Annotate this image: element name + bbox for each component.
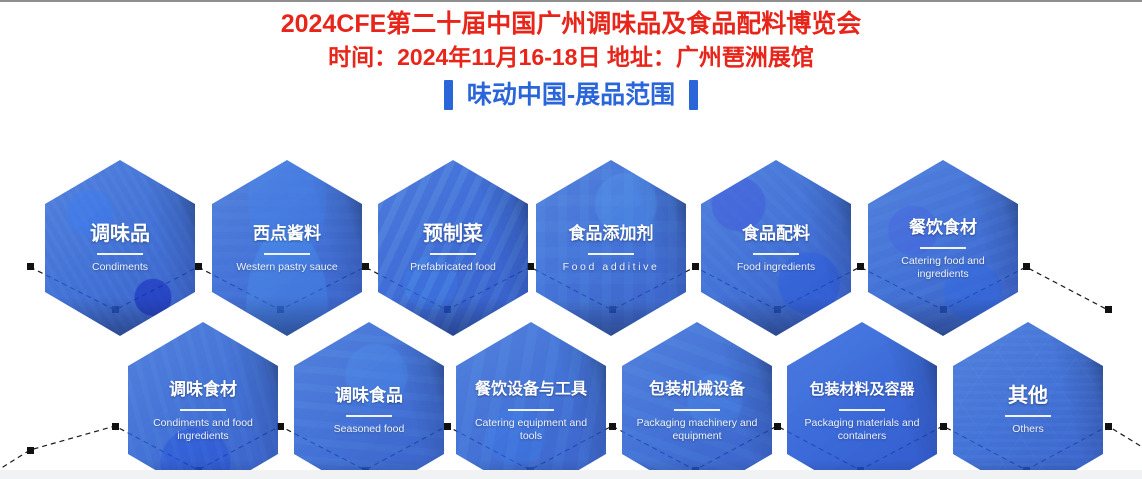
tile-title-cn: 其他 <box>961 384 1095 408</box>
tile-divider <box>430 253 476 255</box>
connector-marker <box>27 263 34 270</box>
exhibition-scope-poster: 2024CFE第二十届中国广州调味品及食品配料博览会 时间：2024年11月16… <box>0 0 1142 479</box>
category-tile-prefabricated-food[interactable]: 预制菜 Prefabricated food <box>378 160 528 336</box>
category-tile-condiments[interactable]: 调味品 Condiments <box>45 160 195 336</box>
category-tile-seasoned-food[interactable]: 调味食品 Seasoned food <box>294 322 444 479</box>
connector-marker <box>27 447 34 454</box>
tile-title-cn: 食品添加剂 <box>544 222 678 246</box>
bottom-strip <box>0 470 1142 479</box>
tile-title-cn: 包装材料及容器 <box>795 378 929 402</box>
tile-title-en: Condiments <box>53 261 187 274</box>
connector-marker <box>195 263 202 270</box>
tile-divider <box>180 409 226 411</box>
tile-divider <box>1005 415 1051 417</box>
connector-marker <box>857 263 864 270</box>
connector-marker <box>609 423 616 430</box>
section-subtitle: 味动中国-展品范围 <box>467 79 675 111</box>
tile-title-en: Condiments and food ingredients <box>136 417 270 442</box>
tile-divider <box>97 253 143 255</box>
connector-marker <box>444 423 451 430</box>
connector-marker <box>1105 306 1112 313</box>
connector-marker <box>692 263 699 270</box>
tile-divider <box>674 409 720 411</box>
connector-marker <box>1023 263 1030 270</box>
tile-title-en: Catering equipment and tools <box>464 417 598 442</box>
tile-title-cn: 预制菜 <box>386 222 520 246</box>
connector-marker <box>774 423 781 430</box>
subtitle-row: 味动中国-展品范围 <box>0 79 1142 111</box>
top-divider <box>0 0 1142 2</box>
tile-title-cn: 包装机械设备 <box>630 378 764 402</box>
tile-title-en: Packaging materials and containers <box>795 417 929 442</box>
connector-marker <box>1105 423 1112 430</box>
tile-divider <box>753 253 799 255</box>
tile-title-cn: 调味食品 <box>302 384 436 408</box>
category-tile-condiments-and-food-ingredients[interactable]: 调味食材 Condiments and food ingredients <box>128 322 278 479</box>
tile-title-en: Food ingredients <box>709 261 843 274</box>
connector-marker <box>940 423 947 430</box>
left-bar-icon <box>444 80 453 110</box>
tile-divider <box>588 253 634 255</box>
tile-title-en: Catering food and ingredients <box>876 255 1010 280</box>
connector-marker <box>362 263 369 270</box>
tile-title-cn: 餐饮食材 <box>876 216 1010 240</box>
tile-title-en: Packaging machinery and equipment <box>630 417 764 442</box>
category-tile-catering-equipment-and-tools[interactable]: 餐饮设备与工具 Catering equipment and tools <box>456 322 606 479</box>
tile-title-en: Seasoned food <box>302 423 436 436</box>
tile-title-en: Others <box>961 423 1095 436</box>
tile-title-en: Western pastry sauce <box>220 261 354 274</box>
category-tile-packaging-materials-and-containers[interactable]: 包装材料及容器 Packaging materials and containe… <box>787 322 937 479</box>
category-tile-food-additive[interactable]: 食品添加剂 Food additive <box>536 160 686 336</box>
tile-divider <box>839 409 885 411</box>
tile-title-cn: 调味食材 <box>136 378 270 402</box>
connector-marker <box>527 263 534 270</box>
tile-title-en: Prefabricated food <box>386 261 520 274</box>
tile-title-cn: 食品配料 <box>709 222 843 246</box>
right-bar-icon <box>689 80 698 110</box>
connector-marker <box>277 423 284 430</box>
category-tile-food-ingredients[interactable]: 食品配料 Food ingredients <box>701 160 851 336</box>
tile-divider <box>508 409 554 411</box>
poster-header: 2024CFE第二十届中国广州调味品及食品配料博览会 时间：2024年11月16… <box>0 8 1142 111</box>
tile-title-cn: 调味品 <box>53 222 187 246</box>
category-tile-others[interactable]: 其他 Others <box>953 322 1103 479</box>
category-tile-western-pastry-sauce[interactable]: 西点酱料 Western pastry sauce <box>212 160 362 336</box>
tile-divider <box>920 247 966 249</box>
tile-title-en: Food additive <box>544 261 678 274</box>
tile-divider <box>264 253 310 255</box>
page-title: 2024CFE第二十届中国广州调味品及食品配料博览会 <box>0 8 1142 40</box>
connector-marker <box>112 423 119 430</box>
category-tile-catering-food-and-ingredients[interactable]: 餐饮食材 Catering food and ingredients <box>868 160 1018 336</box>
event-datetime-venue: 时间：2024年11月16-18日 地址：广州琶洲展馆 <box>0 40 1142 74</box>
tile-divider <box>346 415 392 417</box>
category-tile-packaging-machinery-and-equipment[interactable]: 包装机械设备 Packaging machinery and equipment <box>622 322 772 479</box>
tile-title-cn: 餐饮设备与工具 <box>464 378 598 402</box>
tile-title-cn: 西点酱料 <box>220 222 354 246</box>
